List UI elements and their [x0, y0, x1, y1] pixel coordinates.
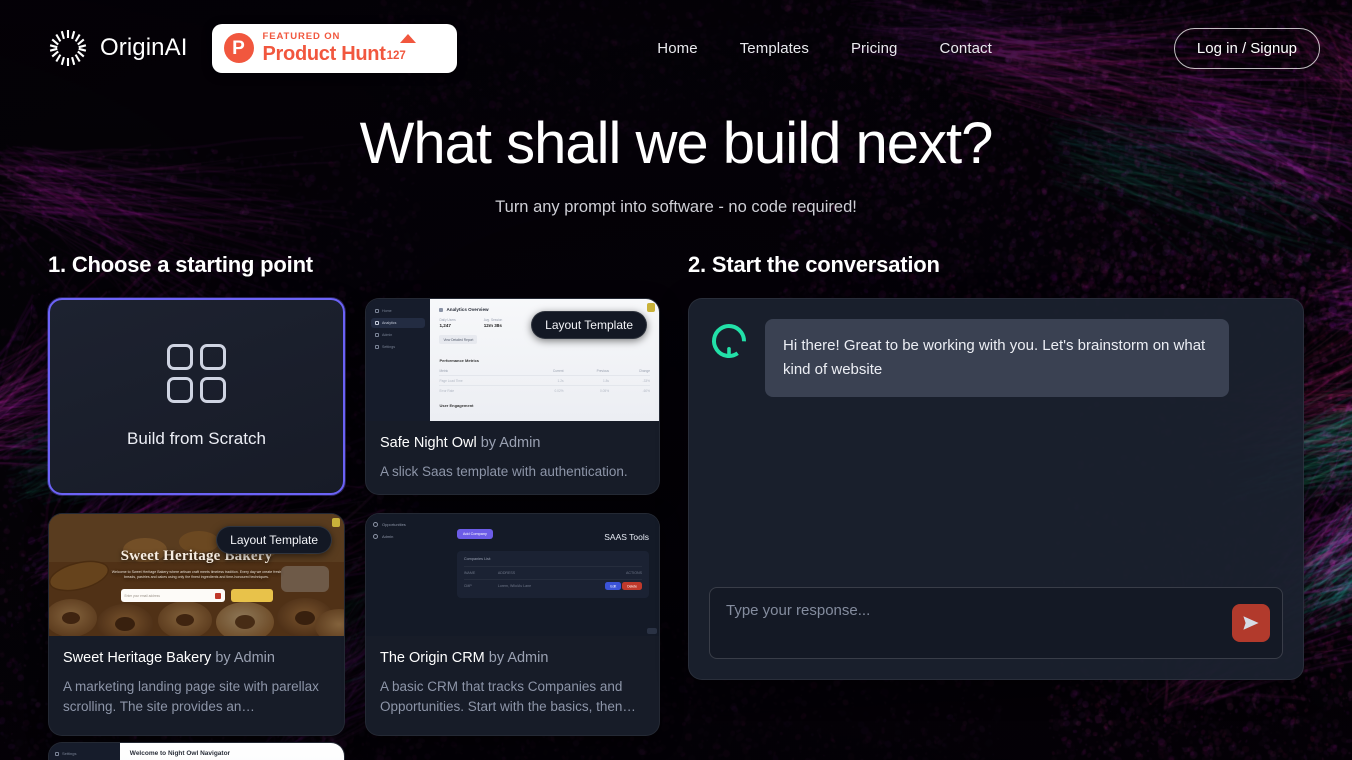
chat-message-assistant: Hi there! Great to be working with you. …: [709, 319, 1283, 397]
status-badge-layout-template: Layout Template: [216, 526, 332, 554]
template-title: The Origin CRM: [380, 650, 485, 666]
nav-item-pricing[interactable]: Pricing: [851, 40, 898, 57]
partial-thumb-title: Welcome to Night Owl Navigator: [130, 750, 334, 757]
chat-input[interactable]: [710, 588, 1282, 633]
brand-logo[interactable]: OriginAI: [48, 28, 188, 68]
crm-add-company-button: Add Company: [457, 529, 493, 539]
grid-2x2-icon: [167, 344, 226, 403]
template-description: A basic CRM that tracks Companies and Op…: [380, 677, 645, 717]
assistant-ring-icon: [709, 321, 749, 361]
product-hunt-badge[interactable]: P FEATURED ON Product Hunt 127: [212, 24, 457, 73]
page-title: What shall we build next?: [0, 112, 1352, 176]
bakery-email-placeholder: Enter your email address: [125, 594, 160, 598]
template-description: A marketing landing page site with parel…: [63, 677, 330, 717]
chat-bubble-text: Hi there! Great to be working with you. …: [765, 319, 1229, 397]
template-card-safe-night-owl[interactable]: Home Analytics Admin Settings Analytics …: [365, 298, 660, 495]
triangle-up-icon: [400, 34, 416, 43]
nav-item-home[interactable]: Home: [657, 40, 697, 57]
thumb-heading: Analytics Overview: [446, 307, 488, 312]
table-row: Page Load Time 1.2s 1.8s -33%: [439, 376, 650, 386]
thumb-nav-home: Home: [382, 309, 392, 313]
nav-item-templates[interactable]: Templates: [740, 40, 809, 57]
template-author: by Admin: [485, 650, 549, 666]
crm-nav-opportunities: Opportunities: [382, 522, 406, 527]
bakery-cta-button: [231, 589, 273, 602]
thumb-col-previous: Previous: [564, 367, 609, 376]
thumb-metrics-table: Metric Current Previous Change Page Load…: [439, 367, 650, 395]
product-hunt-featured-label: FEATURED ON: [263, 32, 406, 42]
thumb-col-metric: Metric: [439, 367, 524, 376]
bakery-email-field: Enter your email address: [121, 589, 225, 602]
page-subtitle: Turn any prompt into software - no code …: [0, 198, 1352, 217]
resize-handle-icon: [647, 628, 657, 634]
template-grid: Build from Scratch Home Analytics Admin …: [48, 298, 660, 736]
build-from-scratch-card[interactable]: Build from Scratch: [48, 298, 345, 495]
status-badge-layout-template: Layout Template: [531, 311, 647, 339]
brand-name: OriginAI: [100, 34, 188, 62]
thumb-nav-analytics: Analytics: [382, 321, 396, 325]
section-title-starting-point: 1. Choose a starting point: [48, 252, 660, 278]
site-header: OriginAI P FEATURED ON Product Hunt 127 …: [0, 0, 1352, 96]
product-hunt-count: 127: [387, 51, 406, 64]
conversation-column: 2. Start the conversation Hi there! Grea…: [688, 252, 1304, 680]
login-signup-button[interactable]: Log in / Signup: [1174, 28, 1320, 69]
crm-edit-button: Edit: [605, 582, 621, 591]
template-thumbnail-dashboard: Home Analytics Admin Settings Analytics …: [366, 299, 659, 421]
product-hunt-logo-icon: P: [224, 33, 254, 63]
template-card-sweet-heritage-bakery[interactable]: Sweet Heritage Bakery Welcome to Sweet H…: [48, 513, 345, 736]
chat-panel: Hi there! Great to be working with you. …: [688, 298, 1304, 680]
build-from-scratch-label: Build from Scratch: [127, 429, 266, 449]
template-card-partial[interactable]: Settings Welcome to Night Owl Navigator …: [48, 742, 345, 760]
crm-list-label: Companies List:: [464, 557, 642, 561]
chat-message-list: Hi there! Great to be working with you. …: [709, 319, 1283, 587]
partial-nav-settings: Settings: [62, 751, 76, 756]
thumb-col-change: Change: [609, 367, 650, 376]
main-nav: Home Templates Pricing Contact Log in / …: [657, 28, 1320, 69]
product-hunt-title: Product Hunt: [263, 44, 386, 64]
template-card-origin-crm[interactable]: Opportunities Admin Add Company SAAS Too…: [365, 513, 660, 736]
crm-thumb-title: SAAS Tools: [604, 532, 649, 542]
thumb-stat-key-0: Daily Users: [439, 318, 455, 322]
thumb-stat-key-1: Avg. Session: [484, 318, 503, 322]
thumb-section-performance: Performance Metrics: [439, 358, 650, 363]
thumb-section-engagement: User Engagement: [439, 403, 650, 408]
send-button[interactable]: [1232, 604, 1270, 642]
bakery-thumb-copy: Welcome to Sweet Heritage Bakery where a…: [107, 570, 287, 581]
template-thumbnail-crm: Opportunities Admin Add Company SAAS Too…: [366, 514, 659, 636]
section-title-conversation: 2. Start the conversation: [688, 252, 1304, 278]
template-author: by Admin: [477, 435, 541, 451]
chat-composer[interactable]: [709, 587, 1283, 659]
thumb-report-button: View Detailed Report: [439, 335, 477, 344]
thumb-stat-value-1: 12m 38s: [484, 323, 503, 328]
template-title: Safe Night Owl: [380, 435, 477, 451]
thumbnail-corner-marker: [647, 303, 655, 312]
table-row: Error Rate 0.02% 0.05% -60%: [439, 386, 650, 396]
thumb-col-current: Current: [525, 367, 564, 376]
table-row: CMP Lorem, Wilo/Av Lane Edit Delete: [464, 579, 642, 592]
table-row: INAME ADDRESS ACTIONS: [464, 566, 642, 579]
template-author: by Admin: [211, 650, 275, 666]
thumb-nav-settings: Settings: [382, 345, 395, 349]
template-description: A slick Saas template with authenticatio…: [380, 462, 645, 482]
paper-plane-icon: [1241, 613, 1261, 633]
template-title: Sweet Heritage Bakery: [63, 650, 211, 666]
starting-point-column: 1. Choose a starting point Build from Sc…: [48, 252, 660, 736]
crm-nav-admin: Admin: [382, 534, 393, 539]
nav-item-contact[interactable]: Contact: [940, 40, 992, 57]
thumbnail-corner-marker: [332, 518, 340, 527]
template-thumbnail-bakery: Sweet Heritage Bakery Welcome to Sweet H…: [49, 514, 344, 636]
thumb-nav-admin: Admin: [382, 333, 392, 337]
crm-delete-button: Delete: [622, 582, 642, 591]
hero-section: What shall we build next? Turn any promp…: [0, 112, 1352, 217]
thumb-stat-value-0: 1,247: [439, 323, 455, 328]
radial-burst-icon: [48, 28, 88, 68]
